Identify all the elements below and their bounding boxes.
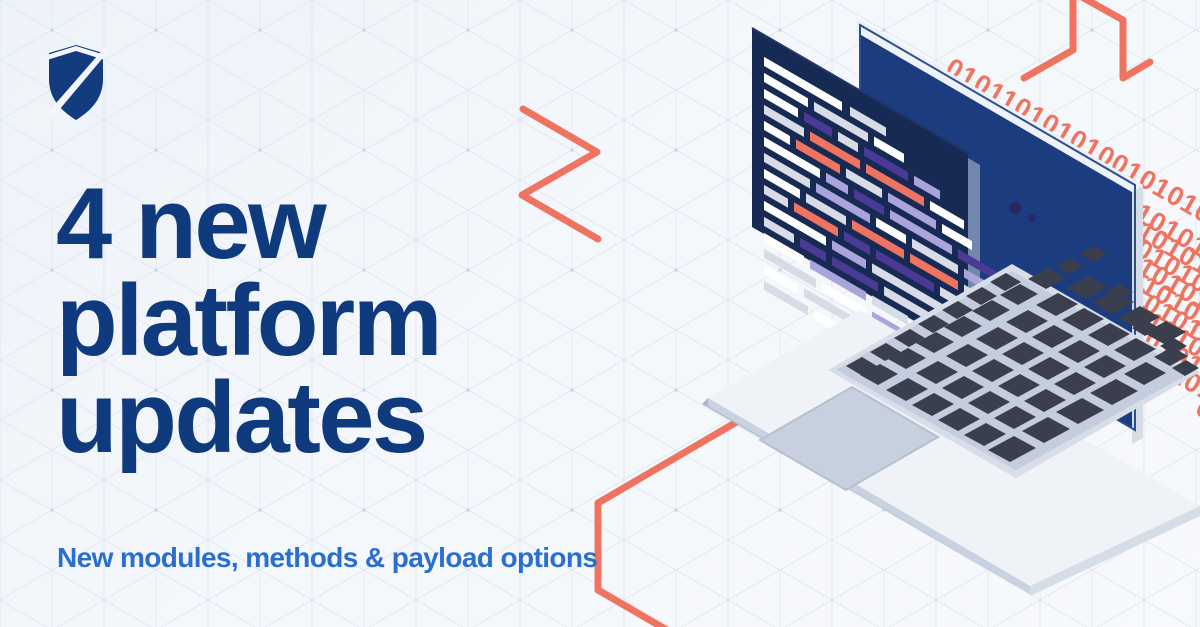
page-title: 4 new platform updates — [56, 176, 576, 467]
laptop-webcam-icon — [1009, 202, 1021, 214]
headline-line-2: platform — [56, 273, 576, 370]
isometric-laptop-illustration — [560, 0, 1200, 627]
shield-logo-icon — [45, 44, 107, 122]
headline-line-3: updates — [56, 370, 576, 467]
laptop-webcam-dot-icon — [1029, 215, 1036, 222]
headline-line-1: 4 new — [56, 176, 576, 273]
banner-canvas: 01011010101001010101010101010 0101010110… — [0, 0, 1200, 627]
page-subtitle: New modules, methods & payload options — [57, 542, 597, 574]
